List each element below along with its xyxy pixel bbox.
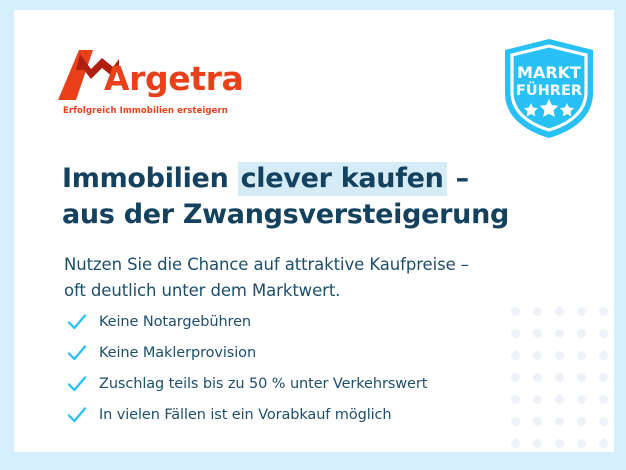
dot — [555, 329, 564, 338]
dot — [599, 439, 608, 448]
dot — [577, 307, 586, 316]
dot — [555, 395, 564, 404]
dot — [599, 329, 608, 338]
dot — [599, 395, 608, 404]
promo-card: Argetra Erfolgreich Immobilien ersteiger… — [14, 10, 614, 452]
headline-line-1: Immobilien clever kaufen – — [62, 161, 542, 197]
subtitle-line-2: oft deutlich unter dem Marktwert. — [64, 278, 564, 305]
dot — [577, 329, 586, 338]
dot — [555, 439, 564, 448]
list-item-label: Keine Notargebühren — [99, 314, 251, 330]
check-icon — [66, 342, 88, 364]
check-icon — [66, 373, 88, 395]
dot — [555, 351, 564, 360]
headline-text-pre: Immobilien — [62, 163, 238, 194]
dot — [555, 417, 564, 426]
badge-line2: FÜHRER — [516, 81, 582, 99]
page-title: Immobilien clever kaufen – aus der Zwang… — [62, 161, 542, 232]
list-item: Keine Notargebühren — [66, 306, 536, 337]
list-item: Zuschlag teils bis zu 50 % unter Verkehr… — [66, 368, 536, 399]
benefits-list: Keine NotargebührenKeine Maklerprovision… — [66, 306, 536, 430]
dot — [599, 307, 608, 316]
dot — [577, 439, 586, 448]
check-icon — [66, 404, 88, 426]
badge-line1: MARKT — [517, 63, 581, 82]
headline-text-post: – — [447, 163, 469, 194]
dot — [533, 439, 542, 448]
dot — [577, 373, 586, 382]
list-item-label: Keine Maklerprovision — [99, 345, 256, 361]
argetra-logo: Argetra Erfolgreich Immobilien ersteiger… — [58, 50, 278, 122]
dot — [599, 351, 608, 360]
headline-line-2: aus der Zwangsversteigerung — [62, 197, 542, 233]
promo-banner: Argetra Erfolgreich Immobilien ersteiger… — [0, 0, 626, 470]
dot — [577, 351, 586, 360]
headline-highlight: clever kaufen — [238, 162, 447, 196]
dot — [577, 395, 586, 404]
check-icon — [66, 311, 88, 333]
subtitle-line-1: Nutzen Sie die Chance auf attraktive Kau… — [64, 252, 564, 279]
logo-tagline: Erfolgreich Immobilien ersteigern — [63, 106, 228, 116]
dot — [599, 373, 608, 382]
dot — [555, 307, 564, 316]
dot — [511, 439, 520, 448]
list-item-label: In vielen Fällen ist ein Vorabkauf mögli… — [99, 407, 392, 423]
shield-badge-icon: MARKT FÜHRER — [501, 37, 597, 140]
list-item: In vielen Fällen ist ein Vorabkauf mögli… — [66, 399, 536, 430]
page-subtitle: Nutzen Sie die Chance auf attraktive Kau… — [64, 252, 564, 305]
dot — [599, 417, 608, 426]
logo-wordmark: Argetra — [104, 62, 243, 95]
list-item-label: Zuschlag teils bis zu 50 % unter Verkehr… — [99, 376, 427, 392]
list-item: Keine Maklerprovision — [66, 337, 536, 368]
dot — [555, 373, 564, 382]
dot — [577, 417, 586, 426]
